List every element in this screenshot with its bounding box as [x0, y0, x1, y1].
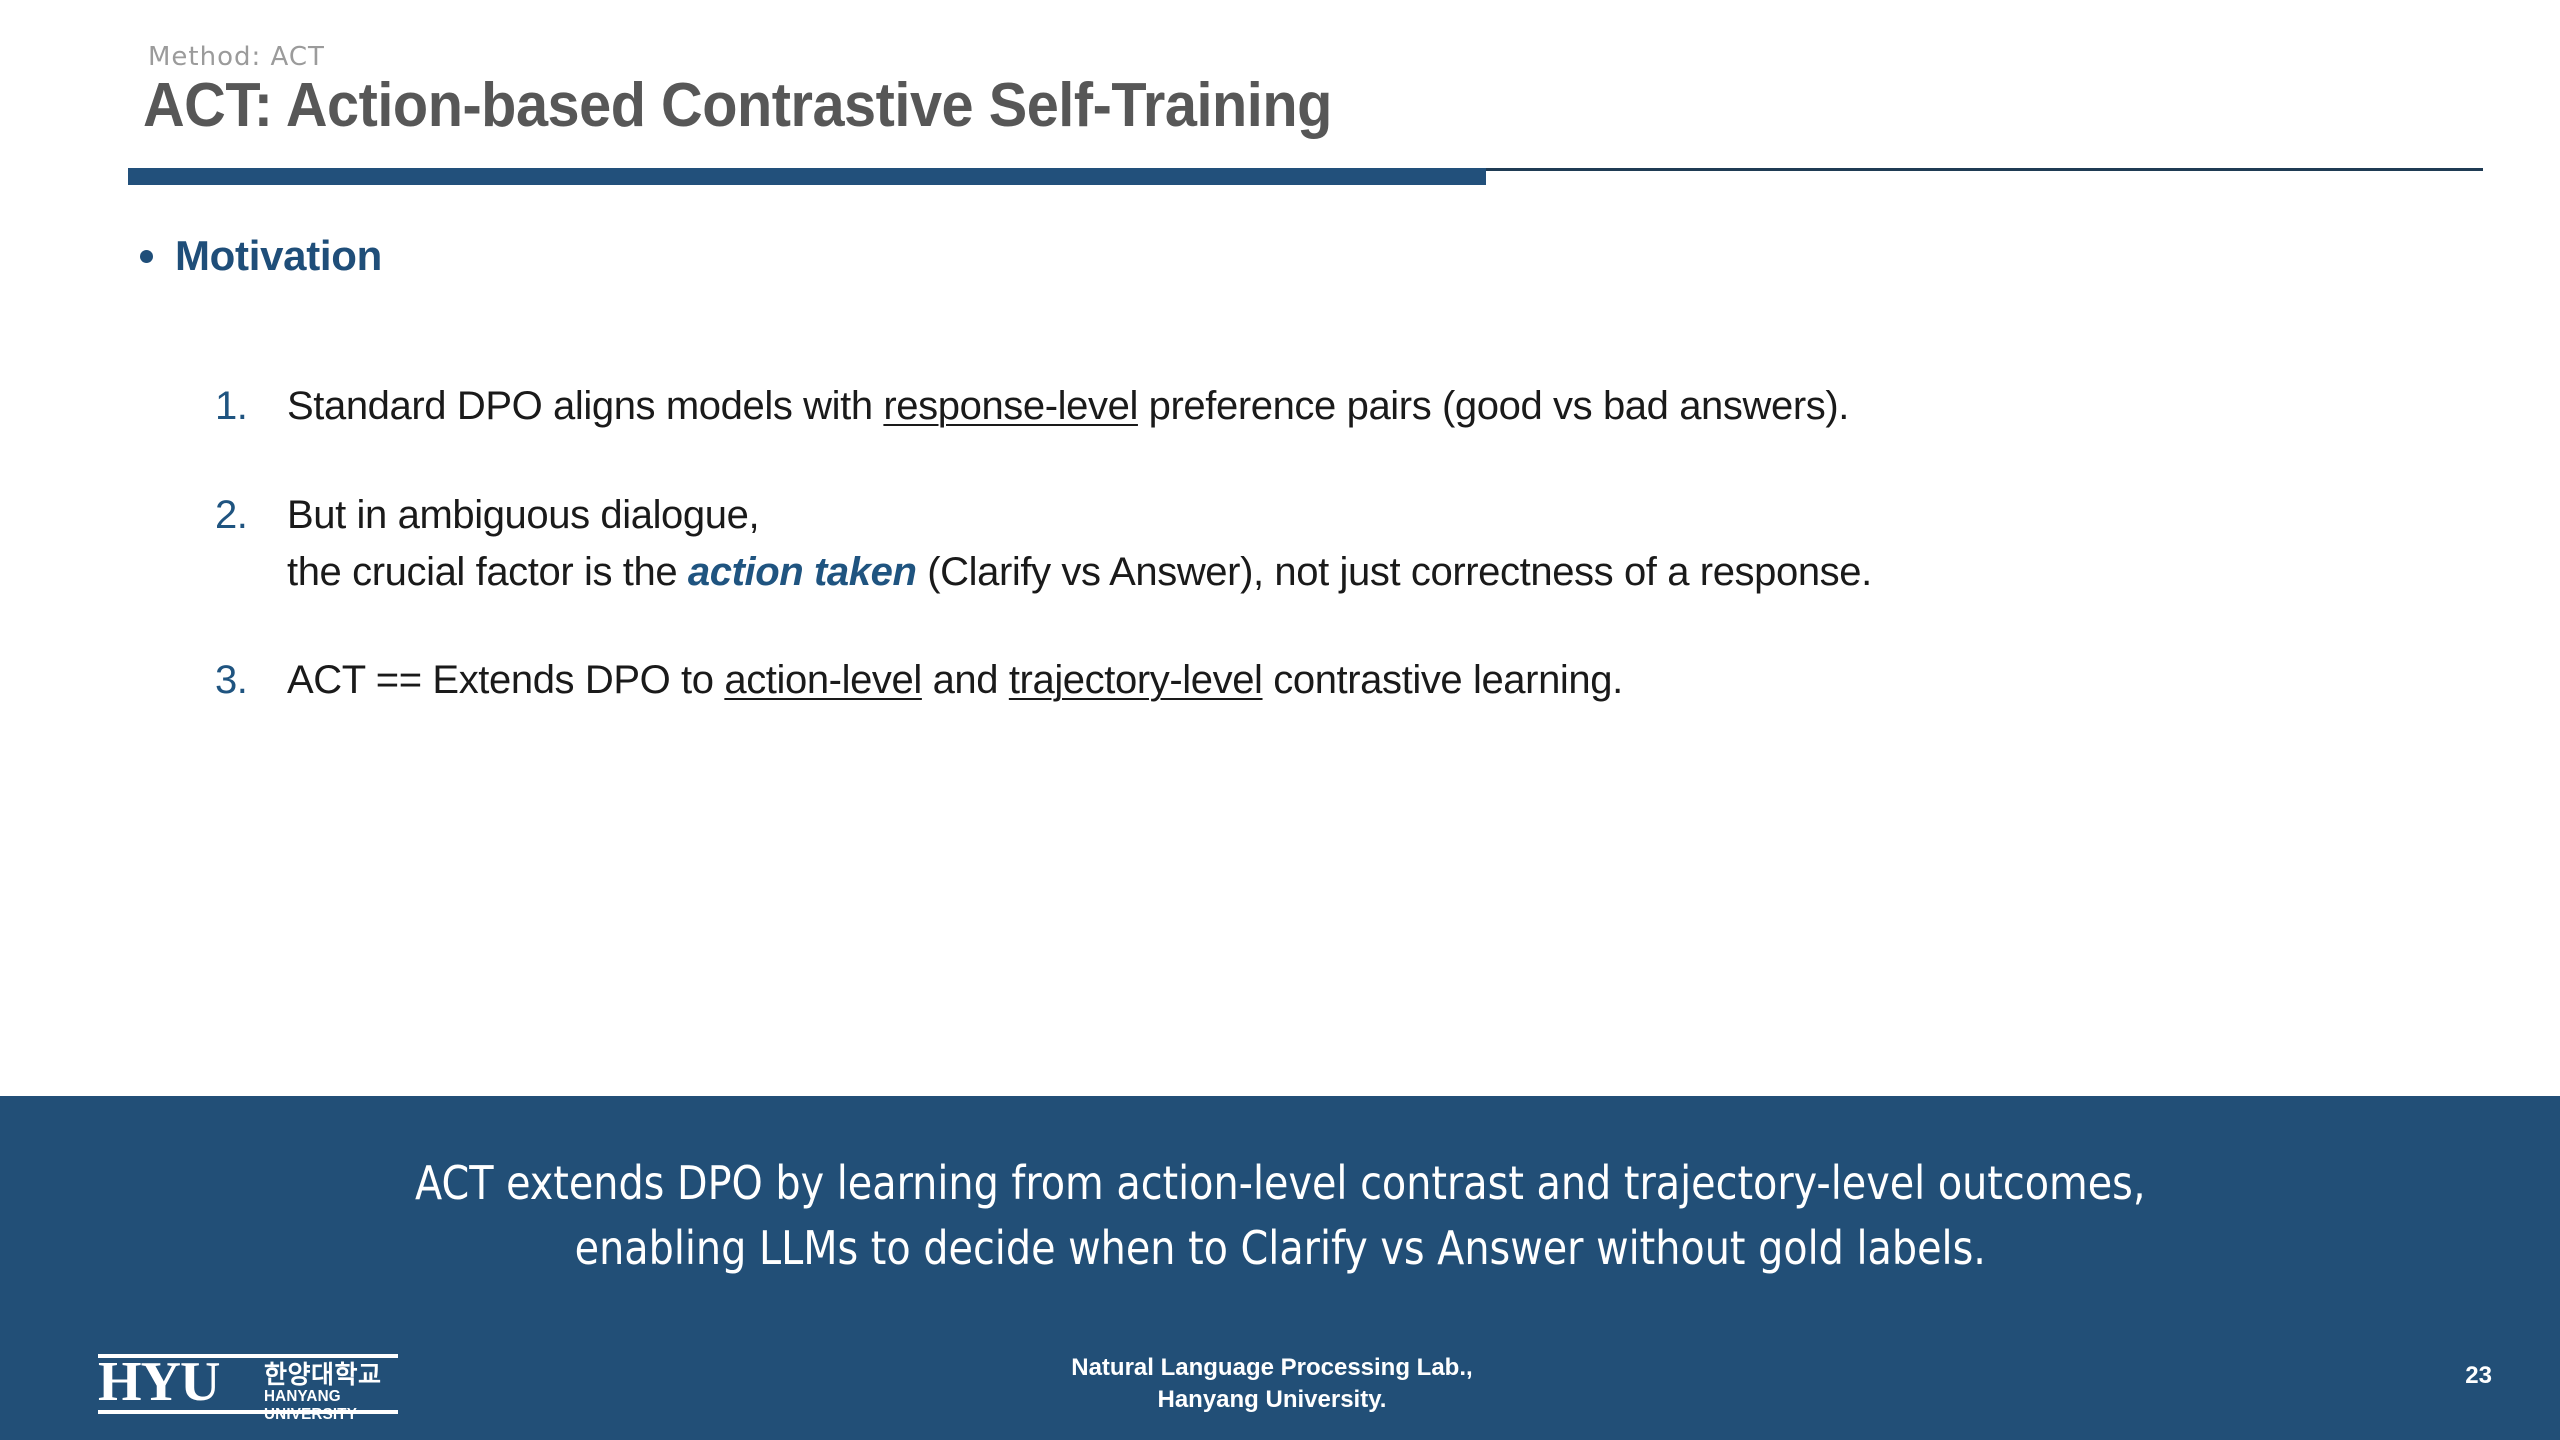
logo-wordmark: HYU: [98, 1354, 219, 1410]
list-item: 2.But in ambiguous dialogue, the crucial…: [215, 487, 2415, 601]
text-run: preference pairs (good vs bad answers).: [1138, 384, 1849, 428]
summary-banner-text: ACT extends DPO by learning from action-…: [415, 1151, 2145, 1282]
text-run: Standard DPO aligns models with: [287, 384, 883, 428]
summary-banner-line-2: enabling LLMs to decide when to Clarify …: [415, 1216, 2145, 1281]
list-item-text: But in ambiguous dialogue, the crucial f…: [287, 487, 1872, 601]
bullet-dot-icon: [140, 250, 153, 263]
emphasis-underline: action-level: [724, 658, 922, 702]
list-item-number: 1.: [215, 378, 287, 435]
logo-english-name: HANYANG UNIVERSITY: [264, 1388, 391, 1424]
emphasis-accent: action taken: [688, 550, 917, 594]
text-run: and: [922, 658, 1009, 702]
list-item: 3.ACT == Extends DPO to action-level and…: [215, 652, 2415, 709]
section-heading: Motivation: [140, 232, 382, 280]
list-item-text: Standard DPO aligns models with response…: [287, 378, 1849, 435]
list-item-text: ACT == Extends DPO to action-level and t…: [287, 652, 1623, 709]
summary-banner-line-1: ACT extends DPO by learning from action-…: [415, 1151, 2145, 1216]
summary-banner: ACT extends DPO by learning from action-…: [0, 1096, 2560, 1336]
emphasis-underline: response-level: [883, 384, 1138, 428]
logo-korean-name: 한양대학교: [264, 1362, 382, 1388]
numbered-list: 1.Standard DPO aligns models with respon…: [215, 378, 2415, 709]
section-heading-label: Motivation: [175, 232, 382, 280]
page-number: 23: [2465, 1362, 2492, 1390]
list-item: 1.Standard DPO aligns models with respon…: [215, 378, 2415, 435]
list-item-number: 3.: [215, 652, 287, 709]
footer-affiliation: Natural Language Processing Lab., Hanyan…: [1071, 1352, 1472, 1415]
slide-eyebrow: Method: ACT: [148, 42, 325, 72]
text-run: ACT == Extends DPO to: [287, 658, 724, 702]
list-item-number: 2.: [215, 487, 287, 544]
hyu-logo: HYU 한양대학교 HANYANG UNIVERSITY: [98, 1352, 398, 1416]
text-run: contrastive learning.: [1263, 658, 1623, 702]
text-run: (Clarify vs Answer), not just correctnes…: [917, 550, 1872, 594]
header-rule-thick: [128, 168, 1486, 185]
emphasis-underline: trajectory-level: [1009, 658, 1263, 702]
slide: Method: ACT ACT: Action-based Contrastiv…: [0, 0, 2560, 1440]
page-title: ACT: Action-based Contrastive Self-Train…: [143, 70, 1332, 141]
